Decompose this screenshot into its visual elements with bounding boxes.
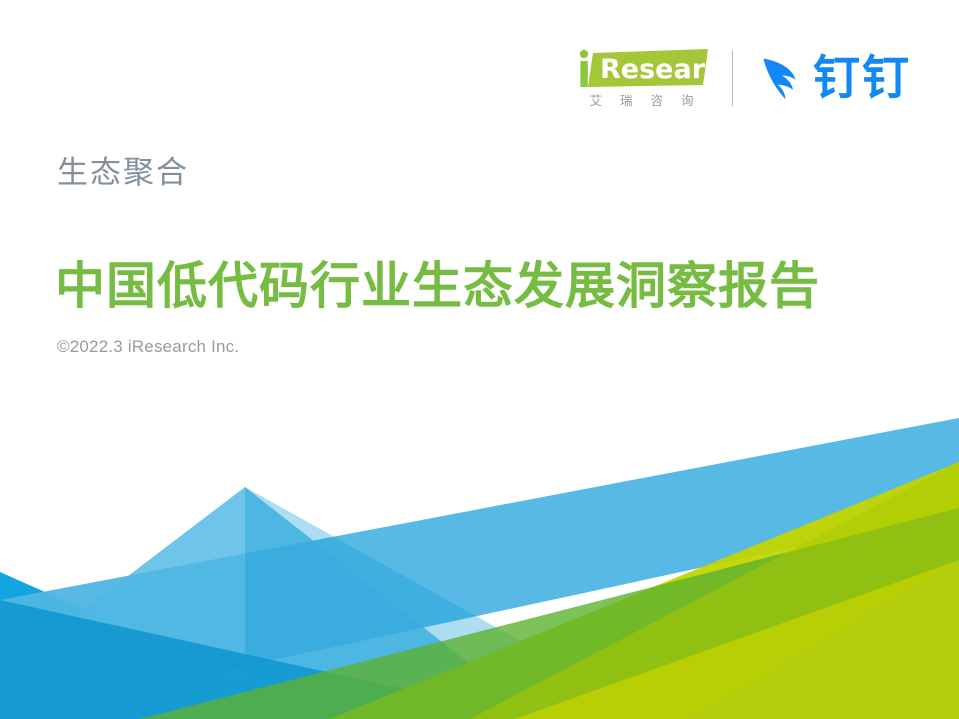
iresearch-mark: Research (575, 47, 708, 89)
blue-peak-shadow (245, 487, 660, 719)
iresearch-subtitle: 艾 瑞 咨 询 (583, 90, 701, 109)
copyright-notice: ©2022.3 iResearch Inc. (57, 337, 239, 357)
dingtalk-logo[interactable]: 钉钉 (755, 48, 911, 108)
dingtalk-wordmark: 钉钉 (813, 55, 911, 102)
logo-bar: Research 艾 瑞 咨 询 钉钉 (575, 44, 911, 112)
report-cover-page: Research 艾 瑞 咨 询 钉钉 生态聚合 中国低代码行业生态发展洞察报告… (0, 0, 959, 719)
iresearch-logo[interactable]: Research 艾 瑞 咨 询 (575, 47, 708, 109)
light-blue-peak (0, 487, 540, 719)
page-title: 中国低代码行业生态发展洞察报告 (55, 246, 820, 318)
blue-diagonal-band (0, 418, 959, 719)
green-foreground-ridge (140, 508, 959, 719)
cover-kicker: 生态聚合 (57, 147, 189, 192)
logo-divider (732, 50, 733, 106)
dingtalk-wing-icon (755, 51, 809, 105)
cyan-left-slope (0, 572, 330, 719)
olive-overlap-sliver (470, 462, 959, 719)
blue-overlap-dark (0, 600, 540, 719)
bright-green-bottom-right (515, 560, 959, 719)
yellow-green-slope (330, 462, 959, 719)
iresearch-badge-icon: Research (575, 47, 708, 89)
iresearch-word: Research (600, 54, 708, 85)
